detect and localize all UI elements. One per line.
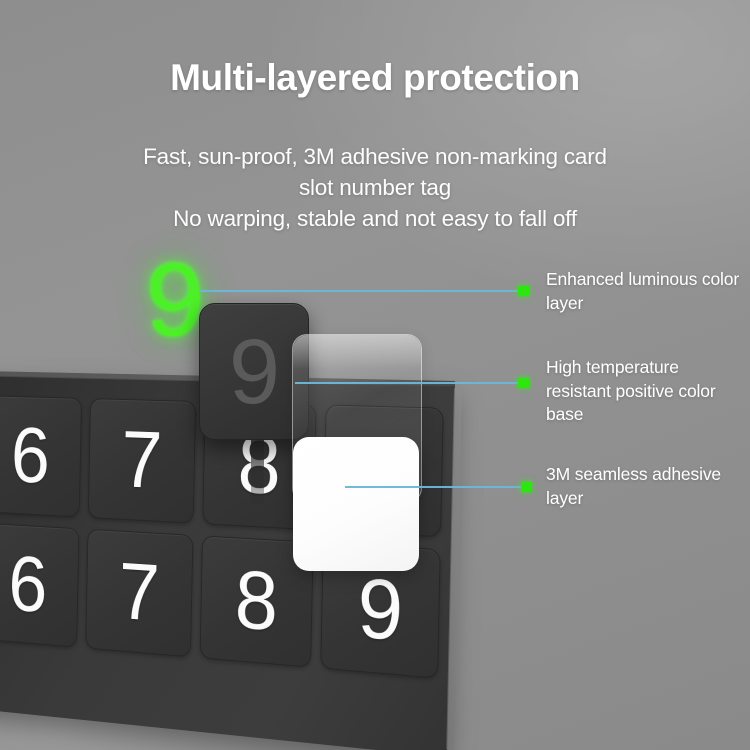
subtitle-line-2: slot number tag	[0, 172, 750, 203]
page-title: Multi-layered protection	[0, 57, 750, 99]
floating-tile-stem	[251, 432, 264, 504]
tile-digit: 7	[118, 551, 160, 634]
callout-label-colorbase: High temperature resistant positive colo…	[546, 356, 746, 427]
tile-digit: 6	[8, 544, 47, 625]
page-subtitle: Fast, sun-proof, 3M adhesive non-marking…	[0, 141, 750, 234]
color-base-digit: 9	[229, 326, 279, 418]
number-tile[interactable]: 7	[88, 398, 196, 523]
number-tile[interactable]: 6	[0, 523, 79, 648]
marker-dot-colorbase	[518, 377, 529, 388]
product-infographic: 6 7 8 6 7 8 9 9 9 Multi-layered protecti…	[0, 0, 750, 750]
leader-line-adhesive	[345, 486, 525, 488]
callout-label-adhesive: 3M seamless adhesive layer	[546, 463, 750, 510]
film-highlight	[293, 335, 421, 369]
tile-digit: 6	[10, 416, 49, 496]
luminous-layer-digit: 9	[146, 248, 204, 352]
subtitle-line-1: Fast, sun-proof, 3M adhesive non-marking…	[0, 141, 750, 172]
leader-line-luminous	[200, 290, 522, 292]
tile-digit: 8	[234, 558, 278, 643]
number-tile[interactable]: 7	[85, 529, 193, 658]
marker-dot-luminous	[518, 285, 529, 296]
number-tile[interactable]: 6	[0, 395, 82, 517]
subtitle-line-3: No warping, stable and not easy to fall …	[0, 203, 750, 234]
leader-line-colorbase	[295, 382, 523, 384]
callout-label-luminous: Enhanced luminous color layer	[546, 268, 750, 315]
adhesive-layer-square	[293, 437, 419, 571]
marker-dot-adhesive	[521, 481, 532, 492]
tile-digit: 9	[357, 566, 403, 654]
tile-digit: 7	[121, 419, 163, 501]
